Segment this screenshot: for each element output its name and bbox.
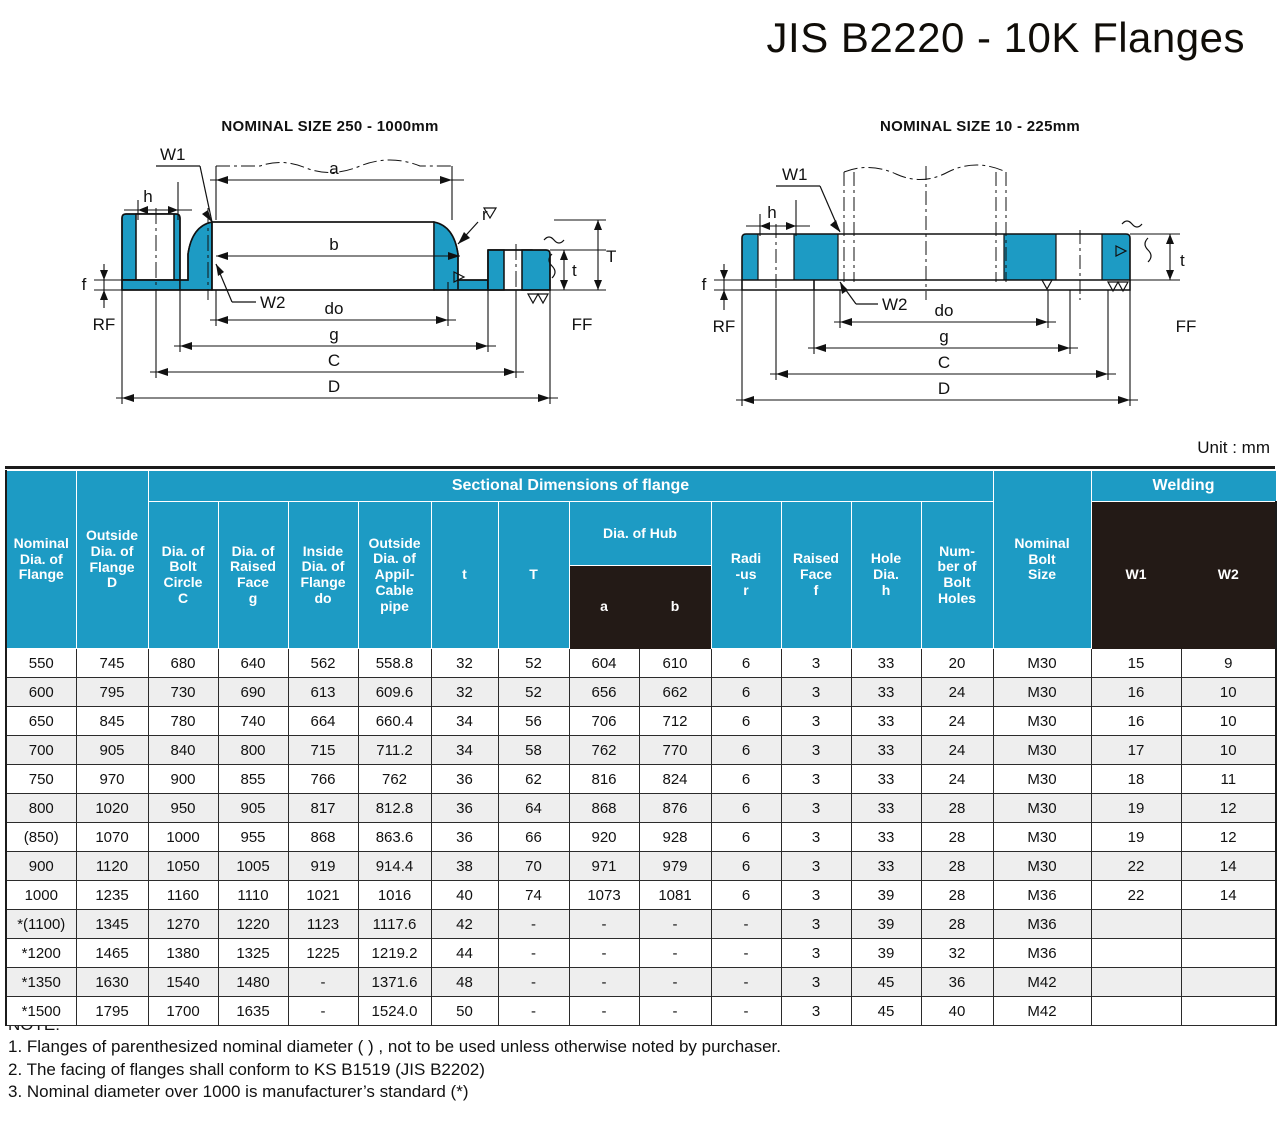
table-row: 1000123511601110102110164074107310816339…: [6, 881, 1276, 910]
cell-outside_dia_D: 845: [76, 707, 148, 736]
cell-nominal_dia: 700: [6, 736, 76, 765]
cell-hole_dia_h: 39: [851, 881, 921, 910]
cell-bolt_size: M30: [993, 823, 1091, 852]
label-FF-right: FF: [1176, 317, 1197, 336]
cell-raised_face_f: 3: [781, 765, 851, 794]
cell-hub_b: 1081: [639, 881, 711, 910]
cell-W2: [1181, 968, 1276, 997]
cell-W2: [1181, 939, 1276, 968]
cell-W2: 11: [1181, 765, 1276, 794]
cell-outside_dia_pipe: 914.4: [358, 852, 431, 881]
cell-inside_dia_do: 715: [288, 736, 358, 765]
cell-nominal_dia: *1200: [6, 939, 76, 968]
cell-outside_dia_D: 1235: [76, 881, 148, 910]
cell-hub_b: 662: [639, 678, 711, 707]
cell-bolt_size: M30: [993, 736, 1091, 765]
cell-radius_r: -: [711, 939, 781, 968]
cell-radius_r: 6: [711, 881, 781, 910]
cell-outside_dia_pipe: 812.8: [358, 794, 431, 823]
cell-raised_face_f: 3: [781, 881, 851, 910]
cell-hub_b: -: [639, 910, 711, 939]
cell-raised_face_g: 690: [218, 678, 288, 707]
cell-radius_r: 6: [711, 649, 781, 678]
cell-outside_dia_D: 1795: [76, 997, 148, 1026]
cell-outside_dia_D: 905: [76, 736, 148, 765]
cell-num_bolt_holes: 28: [921, 852, 993, 881]
cell-W1: 19: [1091, 794, 1181, 823]
cell-raised_face_g: 640: [218, 649, 288, 678]
cell-hole_dia_h: 33: [851, 736, 921, 765]
cell-num_bolt_holes: 40: [921, 997, 993, 1026]
notes-block: NOTE: 1. Flanges of parenthesized nomina…: [8, 1014, 1008, 1104]
col-header-bolt-circle: Dia. ofBoltCircleC: [148, 502, 218, 649]
cell-bolt_circle_C: 1270: [148, 910, 218, 939]
cell-W1: 17: [1091, 736, 1181, 765]
cell-outside_dia_D: 1120: [76, 852, 148, 881]
cell-bolt_circle_C: 1700: [148, 997, 218, 1026]
cell-raised_face_g: 1220: [218, 910, 288, 939]
cell-hub_a: 971: [569, 852, 639, 881]
col-group-dia-of-hub: Dia. of Hub: [569, 502, 711, 566]
cell-outside_dia_D: 1465: [76, 939, 148, 968]
cell-inside_dia_do: -: [288, 997, 358, 1026]
cell-T: 52: [498, 649, 569, 678]
cell-hole_dia_h: 33: [851, 823, 921, 852]
cell-T: 58: [498, 736, 569, 765]
cell-hub_a: -: [569, 997, 639, 1026]
label-W1-left: W1: [160, 145, 186, 164]
cell-T: -: [498, 997, 569, 1026]
cell-radius_r: 6: [711, 736, 781, 765]
cell-num_bolt_holes: 28: [921, 910, 993, 939]
col-group-sectional-dimensions: Sectional Dimensions of flange: [148, 471, 993, 502]
cell-hub_a: -: [569, 939, 639, 968]
cell-W2: 10: [1181, 678, 1276, 707]
cell-raised_face_g: 1325: [218, 939, 288, 968]
col-group-welding: Welding: [1091, 471, 1276, 502]
cell-hub_b: 610: [639, 649, 711, 678]
diagram-10-225: NOMINAL SIZE 10 - 225mm: [680, 104, 1280, 434]
cell-T: 70: [498, 852, 569, 881]
cell-nominal_dia: 800: [6, 794, 76, 823]
cell-raised_face_g: 905: [218, 794, 288, 823]
cell-T: -: [498, 939, 569, 968]
cell-outside_dia_D: 1020: [76, 794, 148, 823]
label-do-right: do: [935, 301, 954, 320]
col-header-inside-dia-do: InsideDia. ofFlangedo: [288, 502, 358, 649]
cell-t: 36: [431, 794, 498, 823]
label-do-left: do: [325, 299, 344, 318]
cell-raised_face_f: 3: [781, 852, 851, 881]
cell-outside_dia_pipe: 1524.0: [358, 997, 431, 1026]
col-header-hub-a: a: [569, 566, 639, 649]
cell-hub_a: -: [569, 968, 639, 997]
label-f-right: f: [702, 275, 707, 294]
cell-t: 34: [431, 707, 498, 736]
col-header-t: t: [431, 502, 498, 649]
cell-radius_r: 6: [711, 765, 781, 794]
cell-T: 52: [498, 678, 569, 707]
cell-hub_b: 979: [639, 852, 711, 881]
cell-num_bolt_holes: 28: [921, 794, 993, 823]
label-FF-left: FF: [572, 315, 593, 334]
col-header-W1: W1: [1091, 502, 1181, 649]
cell-raised_face_g: 955: [218, 823, 288, 852]
cell-hub_a: 656: [569, 678, 639, 707]
cell-raised_face_f: 3: [781, 823, 851, 852]
cell-hub_a: 920: [569, 823, 639, 852]
cell-hub_b: 770: [639, 736, 711, 765]
col-header-nominal-dia: NominalDia. ofFlange: [6, 471, 76, 649]
table-row: *120014651380132512251219.244----33932M3…: [6, 939, 1276, 968]
label-h-left: h: [143, 187, 152, 206]
cell-bolt_circle_C: 1380: [148, 939, 218, 968]
cell-inside_dia_do: 766: [288, 765, 358, 794]
cell-nominal_dia: (850): [6, 823, 76, 852]
note-item-1: 1. Flanges of parenthesized nominal diam…: [8, 1036, 1008, 1058]
diagram-right-drawing: h W1 W2 f: [680, 104, 1280, 434]
cell-radius_r: 6: [711, 823, 781, 852]
cell-t: 44: [431, 939, 498, 968]
cell-bolt_size: M30: [993, 765, 1091, 794]
label-f-left: f: [82, 275, 87, 294]
cell-outside_dia_pipe: 1371.6: [358, 968, 431, 997]
cell-outside_dia_pipe: 609.6: [358, 678, 431, 707]
cell-bolt_size: M36: [993, 910, 1091, 939]
cell-inside_dia_do: -: [288, 968, 358, 997]
cell-hub_b: -: [639, 968, 711, 997]
cell-hole_dia_h: 39: [851, 910, 921, 939]
cell-T: 56: [498, 707, 569, 736]
table-row: 8001020950905817812.83664868876633328M30…: [6, 794, 1276, 823]
label-t-left: t: [572, 261, 577, 280]
cell-inside_dia_do: 1225: [288, 939, 358, 968]
cell-hole_dia_h: 33: [851, 678, 921, 707]
cell-W1: 22: [1091, 852, 1181, 881]
cell-W2: [1181, 997, 1276, 1026]
cell-W1: 19: [1091, 823, 1181, 852]
table-row: *1500179517001635-1524.050----34540M42: [6, 997, 1276, 1026]
cell-raised_face_g: 1110: [218, 881, 288, 910]
cell-hub_b: 824: [639, 765, 711, 794]
cell-nominal_dia: 650: [6, 707, 76, 736]
cell-raised_face_g: 740: [218, 707, 288, 736]
label-T: T: [606, 247, 616, 266]
cell-outside_dia_pipe: 1016: [358, 881, 431, 910]
label-g-left: g: [329, 325, 338, 344]
cell-bolt_size: M30: [993, 649, 1091, 678]
cell-W2: 9: [1181, 649, 1276, 678]
cell-num_bolt_holes: 20: [921, 649, 993, 678]
cell-W1: [1091, 939, 1181, 968]
cell-hole_dia_h: 33: [851, 707, 921, 736]
table-row: *(1100)13451270122011231117.642----33928…: [6, 910, 1276, 939]
cell-outside_dia_pipe: 660.4: [358, 707, 431, 736]
col-header-radius-r: Radi-usr: [711, 502, 781, 649]
cell-raised_face_f: 3: [781, 968, 851, 997]
col-header-raised-face-g: Dia. ofRaisedFaceg: [218, 502, 288, 649]
cell-bolt_circle_C: 840: [148, 736, 218, 765]
cell-num_bolt_holes: 24: [921, 736, 993, 765]
table-row: (850)10701000955868863.63666920928633328…: [6, 823, 1276, 852]
cell-raised_face_g: 1005: [218, 852, 288, 881]
cell-raised_face_f: 3: [781, 910, 851, 939]
cell-nominal_dia: 750: [6, 765, 76, 794]
cell-radius_r: 6: [711, 852, 781, 881]
cell-hub_b: 928: [639, 823, 711, 852]
cell-bolt_size: M30: [993, 852, 1091, 881]
cell-bolt_circle_C: 1540: [148, 968, 218, 997]
label-h-right: h: [767, 203, 776, 222]
cell-T: 66: [498, 823, 569, 852]
label-b: b: [329, 235, 338, 254]
cell-raised_face_f: 3: [781, 649, 851, 678]
table-row: 650845780740664660.43456706712633324M301…: [6, 707, 1276, 736]
cell-W1: 22: [1091, 881, 1181, 910]
cell-t: 42: [431, 910, 498, 939]
cell-num_bolt_holes: 24: [921, 678, 993, 707]
cell-W2: 12: [1181, 823, 1276, 852]
cell-hole_dia_h: 45: [851, 968, 921, 997]
col-header-W2: W2: [1181, 502, 1276, 649]
cell-outside_dia_D: 970: [76, 765, 148, 794]
label-D-left: D: [328, 377, 340, 396]
col-header-outside-dia: OutsideDia. ofFlangeD: [76, 471, 148, 649]
cell-radius_r: 6: [711, 794, 781, 823]
cell-bolt_circle_C: 950: [148, 794, 218, 823]
cell-hole_dia_h: 33: [851, 765, 921, 794]
cell-nominal_dia: 1000: [6, 881, 76, 910]
cell-hole_dia_h: 45: [851, 997, 921, 1026]
cell-radius_r: 6: [711, 707, 781, 736]
cell-num_bolt_holes: 24: [921, 765, 993, 794]
cell-num_bolt_holes: 32: [921, 939, 993, 968]
cell-outside_dia_pipe: 762: [358, 765, 431, 794]
cell-raised_face_f: 3: [781, 794, 851, 823]
col-header-outside-dia-pipe: OutsideDia. ofAppil-Cablepipe: [358, 502, 431, 649]
table-row: 900112010501005919914.43870971979633328M…: [6, 852, 1276, 881]
cell-T: 62: [498, 765, 569, 794]
cell-outside_dia_pipe: 1117.6: [358, 910, 431, 939]
cell-hub_b: 712: [639, 707, 711, 736]
cell-outside_dia_pipe: 558.8: [358, 649, 431, 678]
cell-outside_dia_D: 1345: [76, 910, 148, 939]
cell-num_bolt_holes: 36: [921, 968, 993, 997]
cell-raised_face_g: 855: [218, 765, 288, 794]
col-header-bolt-size: NominalBoltSize: [993, 471, 1091, 649]
cell-hole_dia_h: 33: [851, 852, 921, 881]
cell-radius_r: 6: [711, 678, 781, 707]
cell-bolt_size: M36: [993, 881, 1091, 910]
cell-hole_dia_h: 39: [851, 939, 921, 968]
cell-t: 36: [431, 765, 498, 794]
table-top-rule: [5, 466, 1275, 469]
label-C-right: C: [938, 353, 950, 372]
cell-W2: 14: [1181, 852, 1276, 881]
col-header-raised-face-f: RaisedFacef: [781, 502, 851, 649]
cell-raised_face_f: 3: [781, 939, 851, 968]
table-row: 700905840800715711.23458762770633324M301…: [6, 736, 1276, 765]
cell-raised_face_f: 3: [781, 997, 851, 1026]
cell-nominal_dia: 550: [6, 649, 76, 678]
cell-hub_a: 1073: [569, 881, 639, 910]
cell-nominal_dia: 600: [6, 678, 76, 707]
cell-t: 50: [431, 997, 498, 1026]
cell-bolt_circle_C: 1160: [148, 881, 218, 910]
label-g-right: g: [939, 327, 948, 346]
col-header-num-bolt-holes: Num-ber ofBoltHoles: [921, 502, 993, 649]
cell-inside_dia_do: 664: [288, 707, 358, 736]
cell-hub_b: 876: [639, 794, 711, 823]
cell-T: 64: [498, 794, 569, 823]
col-header-hub-b: b: [639, 566, 711, 649]
table-row: 600795730690613609.63252656662633324M301…: [6, 678, 1276, 707]
cell-T: 74: [498, 881, 569, 910]
cell-outside_dia_pipe: 711.2: [358, 736, 431, 765]
col-header-T: T: [498, 502, 569, 649]
cell-nominal_dia: *(1100): [6, 910, 76, 939]
cell-W2: [1181, 910, 1276, 939]
label-RF-right: RF: [713, 317, 736, 336]
cell-bolt_circle_C: 780: [148, 707, 218, 736]
cell-t: 34: [431, 736, 498, 765]
cell-outside_dia_D: 745: [76, 649, 148, 678]
header-row-group: NominalDia. ofFlange OutsideDia. ofFlang…: [6, 471, 1276, 502]
cell-W2: 14: [1181, 881, 1276, 910]
cell-t: 38: [431, 852, 498, 881]
label-RF-left: RF: [93, 315, 116, 334]
cell-bolt_size: M42: [993, 968, 1091, 997]
cell-W1: [1091, 910, 1181, 939]
label-W2-left: W2: [260, 293, 286, 312]
table-header: NominalDia. ofFlange OutsideDia. ofFlang…: [6, 471, 1276, 649]
diagram-left-drawing: h W1 W2 a: [60, 104, 640, 434]
cell-raised_face_f: 3: [781, 678, 851, 707]
cell-bolt_size: M30: [993, 707, 1091, 736]
cell-hub_a: 816: [569, 765, 639, 794]
cell-inside_dia_do: 868: [288, 823, 358, 852]
cell-bolt_size: M30: [993, 678, 1091, 707]
cell-outside_dia_D: 1070: [76, 823, 148, 852]
cell-hole_dia_h: 33: [851, 649, 921, 678]
cell-outside_dia_pipe: 863.6: [358, 823, 431, 852]
cell-W2: 10: [1181, 736, 1276, 765]
cell-inside_dia_do: 1021: [288, 881, 358, 910]
cell-hub_a: 604: [569, 649, 639, 678]
cell-W1: 16: [1091, 678, 1181, 707]
cell-bolt_size: M36: [993, 939, 1091, 968]
note-item-2: 2. The facing of flanges shall conform t…: [8, 1059, 1008, 1081]
cell-T: -: [498, 968, 569, 997]
cell-nominal_dia: *1500: [6, 997, 76, 1026]
cell-W1: [1091, 968, 1181, 997]
cell-t: 36: [431, 823, 498, 852]
cell-radius_r: -: [711, 968, 781, 997]
cell-bolt_circle_C: 680: [148, 649, 218, 678]
label-W2-right: W2: [882, 295, 908, 314]
cell-inside_dia_do: 1123: [288, 910, 358, 939]
cell-T: -: [498, 910, 569, 939]
col-header-hole-dia-h: HoleDia.h: [851, 502, 921, 649]
cell-raised_face_g: 1480: [218, 968, 288, 997]
cell-inside_dia_do: 817: [288, 794, 358, 823]
label-t-right: t: [1180, 251, 1185, 270]
label-W1-right: W1: [782, 165, 808, 184]
table-row: 550745680640562558.83252604610633320M301…: [6, 649, 1276, 678]
cell-nominal_dia: 900: [6, 852, 76, 881]
table-body: 550745680640562558.83252604610633320M301…: [6, 649, 1276, 1026]
cell-num_bolt_holes: 28: [921, 823, 993, 852]
cell-radius_r: -: [711, 997, 781, 1026]
cell-inside_dia_do: 919: [288, 852, 358, 881]
cell-t: 48: [431, 968, 498, 997]
flange-diagrams: NOMINAL SIZE 250 - 1000mm: [0, 104, 1280, 434]
cell-W1: 18: [1091, 765, 1181, 794]
cell-t: 32: [431, 649, 498, 678]
cell-bolt_circle_C: 1050: [148, 852, 218, 881]
label-a: a: [329, 159, 339, 178]
cell-hub_b: -: [639, 939, 711, 968]
cell-bolt_size: M42: [993, 997, 1091, 1026]
cell-hub_a: 706: [569, 707, 639, 736]
cell-raised_face_g: 800: [218, 736, 288, 765]
label-D-right: D: [938, 379, 950, 398]
unit-label: Unit : mm: [1197, 438, 1270, 458]
cell-bolt_circle_C: 900: [148, 765, 218, 794]
cell-raised_face_g: 1635: [218, 997, 288, 1026]
cell-nominal_dia: *1350: [6, 968, 76, 997]
cell-radius_r: -: [711, 910, 781, 939]
cell-W1: 15: [1091, 649, 1181, 678]
cell-raised_face_f: 3: [781, 707, 851, 736]
cell-outside_dia_D: 795: [76, 678, 148, 707]
cell-inside_dia_do: 613: [288, 678, 358, 707]
cell-inside_dia_do: 562: [288, 649, 358, 678]
cell-W1: [1091, 997, 1181, 1026]
table-row: 7509709008557667623662816824633324M30181…: [6, 765, 1276, 794]
cell-outside_dia_D: 1630: [76, 968, 148, 997]
cell-bolt_size: M30: [993, 794, 1091, 823]
cell-hole_dia_h: 33: [851, 794, 921, 823]
cell-W2: 12: [1181, 794, 1276, 823]
table-row: *1350163015401480-1371.648----34536M42: [6, 968, 1276, 997]
cell-bolt_circle_C: 730: [148, 678, 218, 707]
page-title: JIS B2220 - 10K Flanges: [0, 14, 1245, 62]
cell-hub_a: 868: [569, 794, 639, 823]
diagram-250-1000: NOMINAL SIZE 250 - 1000mm: [60, 104, 640, 434]
cell-bolt_circle_C: 1000: [148, 823, 218, 852]
flange-dimensions-table: NominalDia. ofFlange OutsideDia. ofFlang…: [5, 470, 1275, 1026]
cell-hub_a: 762: [569, 736, 639, 765]
cell-raised_face_f: 3: [781, 736, 851, 765]
cell-W2: 10: [1181, 707, 1276, 736]
note-item-3: 3. Nominal diameter over 1000 is manufac…: [8, 1081, 1008, 1103]
cell-hub_b: -: [639, 997, 711, 1026]
cell-W1: 16: [1091, 707, 1181, 736]
label-C-left: C: [328, 351, 340, 370]
cell-t: 32: [431, 678, 498, 707]
cell-num_bolt_holes: 24: [921, 707, 993, 736]
cell-t: 40: [431, 881, 498, 910]
cell-hub_a: -: [569, 910, 639, 939]
cell-num_bolt_holes: 28: [921, 881, 993, 910]
cell-outside_dia_pipe: 1219.2: [358, 939, 431, 968]
